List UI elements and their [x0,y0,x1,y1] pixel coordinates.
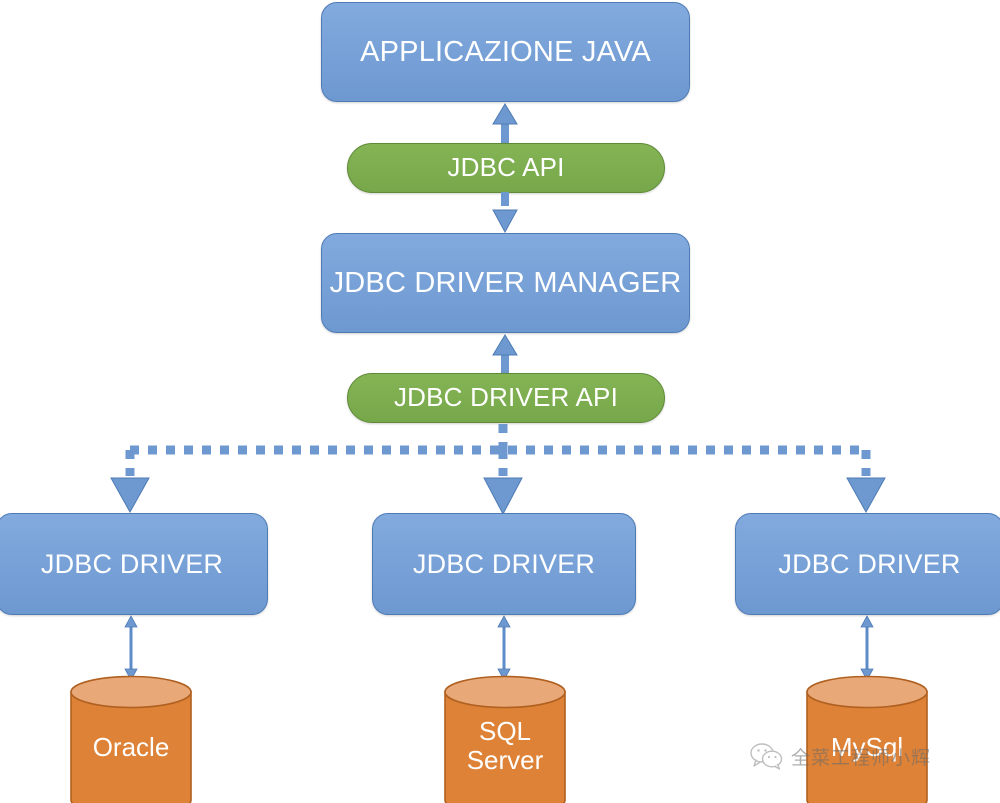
node-applicazione-java[interactable]: APPLICAZIONE JAVA [321,2,690,102]
connector-driver-left-to-oracle [122,615,140,681]
node-jdbc-driver-middle[interactable]: JDBC DRIVER [372,513,636,615]
database-sqlserver-line2: Server [467,745,544,775]
database-cylinder-mysql[interactable]: MySql [806,676,928,803]
connector-driver-right-to-mysql [858,615,876,681]
node-jdbc-api[interactable]: JDBC API [347,143,665,193]
database-cylinder-sqlserver[interactable]: SQL Server [444,676,566,803]
jdbc-architecture-diagram: APPLICAZIONE JAVA JDBC API JDBC DRIVER M… [0,0,1000,803]
node-jdbc-driver-right-label: JDBC DRIVER [736,549,1000,579]
node-jdbc-driver-left-label: JDBC DRIVER [0,549,267,579]
node-jdbc-driver-manager-label: JDBC DRIVER MANAGER [322,267,689,299]
connector-jdbc-api-to-driver-manager [492,192,518,234]
wechat-icon [750,742,784,770]
watermark: 全菜工程师小辉 [750,742,931,770]
database-cylinder-oracle[interactable]: Oracle [70,676,192,803]
node-jdbc-driver-manager[interactable]: JDBC DRIVER MANAGER [321,233,690,333]
node-applicazione-java-label: APPLICAZIONE JAVA [322,36,689,68]
connector-driver-middle-to-sqlserver [495,615,513,681]
connector-driver-api-to-driver-manager [492,333,518,375]
node-jdbc-driver-right[interactable]: JDBC DRIVER [735,513,1000,615]
node-jdbc-driver-api-label: JDBC DRIVER API [348,383,664,412]
node-jdbc-api-label: JDBC API [348,153,664,182]
database-oracle-line1: Oracle [93,732,170,762]
watermark-text: 全菜工程师小辉 [791,743,931,770]
connector-jdbc-api-to-application [492,102,518,144]
database-sqlserver-line1: SQL [479,716,531,746]
node-jdbc-driver-middle-label: JDBC DRIVER [373,549,635,579]
database-cylinder-sqlserver-label: SQL Server [444,717,566,774]
database-cylinder-oracle-label: Oracle [70,733,192,762]
node-jdbc-driver-left[interactable]: JDBC DRIVER [0,513,268,615]
node-jdbc-driver-api[interactable]: JDBC DRIVER API [347,373,665,423]
